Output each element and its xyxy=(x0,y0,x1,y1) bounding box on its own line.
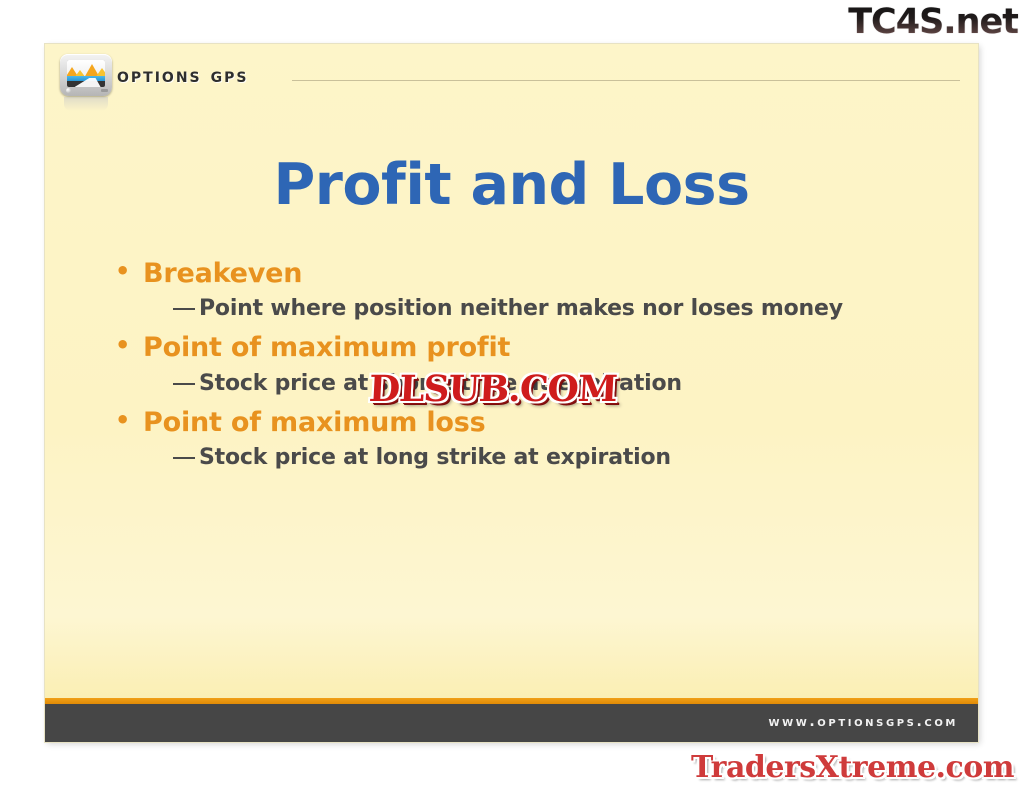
device-speaker xyxy=(101,89,108,92)
bullet-level1: • Point of maximum profit xyxy=(115,328,938,367)
bullet-level1-label: Point of maximum profit xyxy=(143,328,938,367)
bullet-level2-label: Stock price at long strike at expiration xyxy=(199,442,938,473)
device-screen xyxy=(67,60,105,87)
bullet-list: • Breakeven Point where position neither… xyxy=(115,254,938,477)
em-dash-icon xyxy=(173,293,199,310)
slide-footer: www.OptionsGPS.com xyxy=(45,704,978,742)
bullet-level2-label: Point where position neither makes nor l… xyxy=(199,293,938,324)
slide-header: Options GPS xyxy=(45,44,978,106)
page-background: TC4S.net Options GPS xyxy=(0,0,1024,791)
footer-url: www.OptionsGPS.com xyxy=(768,714,958,730)
bullet-level1-label: Breakeven xyxy=(143,254,938,293)
watermark-top-right: TC4S.net xyxy=(848,2,1018,42)
em-dash-icon xyxy=(173,442,199,459)
bullet-level2: Stock price at long strike at expiration xyxy=(173,442,938,473)
device-knob xyxy=(66,88,71,93)
header-divider xyxy=(292,80,960,81)
watermark-bottom-right: TradersXtreme.com xyxy=(691,750,1014,785)
brand-wordmark: Options GPS xyxy=(117,63,248,87)
bullet-dot-icon: • xyxy=(115,328,143,363)
watermark-center: DLSUB.COM xyxy=(368,368,618,410)
device-reflection xyxy=(64,97,108,111)
bullet-dot-icon: • xyxy=(115,254,143,289)
bullet-level1: • Breakeven xyxy=(115,254,938,293)
bullet-group: • Breakeven Point where position neither… xyxy=(115,254,938,324)
bullet-group: • Point of maximum loss Stock price at l… xyxy=(115,403,938,473)
bullet-level2: Point where position neither makes nor l… xyxy=(173,293,938,324)
gps-device-icon xyxy=(60,54,112,96)
bullet-dot-icon: • xyxy=(115,403,143,438)
page-title: Profit and Loss xyxy=(45,154,978,217)
em-dash-icon xyxy=(173,368,199,385)
